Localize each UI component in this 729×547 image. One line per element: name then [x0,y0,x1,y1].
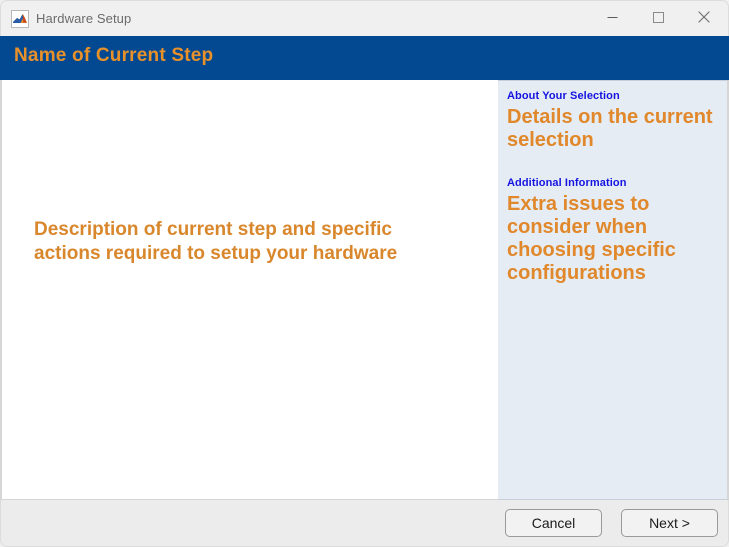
dialog-footer: Cancel Next > [0,500,729,547]
help-section: About Your Selection Details on the curr… [507,89,723,152]
step-description-pane: Description of current step and specific… [0,80,498,500]
help-section: Additional Information Extra issues to c… [507,176,723,285]
help-section-kicker: About Your Selection [507,89,723,103]
step-title: Name of Current Step [14,45,213,67]
help-section-heading: Details on the current selection [507,106,723,152]
close-icon[interactable] [681,1,727,33]
step-description-text: Description of current step and specific… [34,218,434,266]
window-titlebar: Hardware Setup [0,0,729,36]
window-title: Hardware Setup [36,10,131,28]
minimize-icon[interactable] [589,1,635,33]
step-banner: Name of Current Step [0,36,729,80]
hardware-setup-window: Hardware Setup Name of Current Step Desc… [0,0,729,547]
content-area: Description of current step and specific… [0,80,729,500]
next-button[interactable]: Next > [621,509,718,537]
maximize-icon[interactable] [635,1,681,33]
help-section-heading: Extra issues to consider when choosing s… [507,193,723,285]
cancel-button[interactable]: Cancel [505,509,602,537]
help-panel: About Your Selection Details on the curr… [498,80,729,500]
matlab-icon [11,10,29,28]
help-section-kicker: Additional Information [507,176,723,190]
